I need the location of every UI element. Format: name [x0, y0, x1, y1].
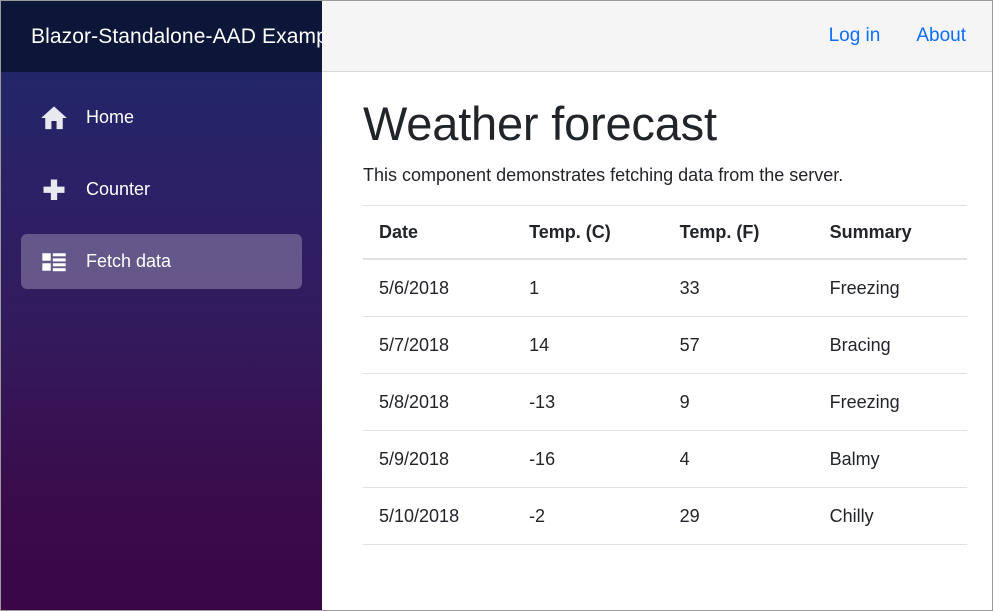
table-head: Date Temp. (C) Temp. (F) Summary: [363, 206, 967, 260]
cell-temp-f: 57: [664, 317, 814, 374]
cell-temp-c: -13: [513, 374, 664, 431]
page-subtitle: This component demonstrates fetching dat…: [363, 165, 964, 186]
cell-temp-f: 33: [664, 259, 814, 317]
sidebar-item-label-fetch-data: Fetch data: [86, 251, 171, 272]
cell-date: 5/8/2018: [363, 374, 513, 431]
log-in-link[interactable]: Log in: [829, 25, 881, 47]
cell-temp-c: -2: [513, 488, 664, 545]
cell-summary: Freezing: [814, 374, 967, 431]
cell-date: 5/6/2018: [363, 259, 513, 317]
home-icon: [40, 105, 68, 131]
sidebar-item-counter[interactable]: Counter: [21, 162, 302, 217]
table-body: 5/6/2018 1 33 Freezing 5/7/2018 14 57 Br…: [363, 259, 967, 545]
cell-date: 5/10/2018: [363, 488, 513, 545]
table-row: 5/6/2018 1 33 Freezing: [363, 259, 967, 317]
brand-title: Blazor-Standalone-AAD Example: [31, 25, 322, 49]
cell-temp-f: 9: [664, 374, 814, 431]
sidebar: Blazor-Standalone-AAD Example Home Count…: [1, 1, 322, 611]
cell-temp-f: 4: [664, 431, 814, 488]
cell-temp-c: 14: [513, 317, 664, 374]
cell-summary: Bracing: [814, 317, 967, 374]
column-header-date: Date: [363, 206, 513, 260]
sidebar-item-label-counter: Counter: [86, 179, 150, 200]
table-row: 5/10/2018 -2 29 Chilly: [363, 488, 967, 545]
column-header-summary: Summary: [814, 206, 967, 260]
sidebar-nav: Home Counter Fetch data: [1, 72, 322, 289]
topbar: Log in About: [322, 1, 992, 72]
about-link[interactable]: About: [916, 25, 966, 47]
cell-temp-c: 1: [513, 259, 664, 317]
sidebar-brand-header[interactable]: Blazor-Standalone-AAD Example: [1, 1, 322, 72]
cell-date: 5/7/2018: [363, 317, 513, 374]
page-title: Weather forecast: [363, 97, 964, 151]
table-header-row: Date Temp. (C) Temp. (F) Summary: [363, 206, 967, 260]
table-row: 5/8/2018 -13 9 Freezing: [363, 374, 967, 431]
weather-forecast-table: Date Temp. (C) Temp. (F) Summary 5/6/201…: [363, 205, 967, 545]
table-row: 5/9/2018 -16 4 Balmy: [363, 431, 967, 488]
main-content: Weather forecast This component demonstr…: [322, 72, 992, 610]
cell-summary: Chilly: [814, 488, 967, 545]
plus-icon: [40, 177, 68, 203]
cell-temp-f: 29: [664, 488, 814, 545]
cell-date: 5/9/2018: [363, 431, 513, 488]
sidebar-item-label-home: Home: [86, 107, 134, 128]
sidebar-item-fetch-data[interactable]: Fetch data: [21, 234, 302, 289]
table-row: 5/7/2018 14 57 Bracing: [363, 317, 967, 374]
column-header-temp-c: Temp. (C): [513, 206, 664, 260]
cell-summary: Freezing: [814, 259, 967, 317]
list-icon: [40, 249, 68, 275]
sidebar-item-home[interactable]: Home: [21, 90, 302, 145]
app-window: Blazor-Standalone-AAD Example Home Count…: [0, 0, 993, 611]
column-header-temp-f: Temp. (F): [664, 206, 814, 260]
cell-summary: Balmy: [814, 431, 967, 488]
cell-temp-c: -16: [513, 431, 664, 488]
